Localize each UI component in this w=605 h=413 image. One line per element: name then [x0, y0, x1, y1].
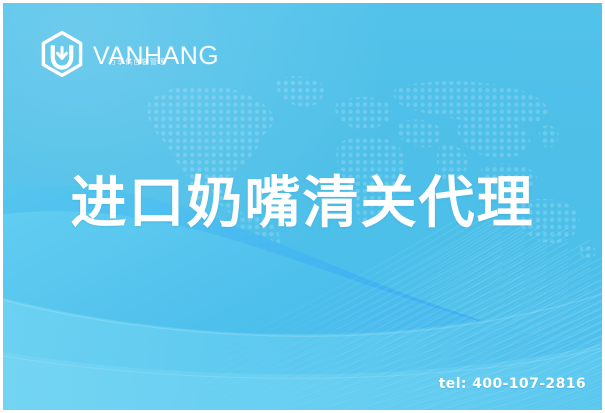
brand-logo: VANHANG 万享供应链管理 [39, 30, 219, 78]
vanhang-hexagon-logo-icon [39, 30, 85, 78]
promo-banner: VANHANG 万享供应链管理 进口奶嘴清关代理 tel: 400-107-28… [0, 0, 605, 413]
wordmark-tail: G [198, 40, 219, 70]
banner-artwork: VANHANG 万享供应链管理 进口奶嘴清关代理 tel: 400-107-28… [3, 3, 602, 410]
contact-phone: tel: 400-107-2816 [439, 376, 586, 392]
brand-subtitle: 万享供应链管理 [109, 59, 166, 66]
dotted-world-map [131, 65, 601, 270]
page-title: 进口奶嘴清关代理 [3, 171, 602, 237]
brand-wordmark: VANHANG 万享供应链管理 [93, 40, 219, 69]
